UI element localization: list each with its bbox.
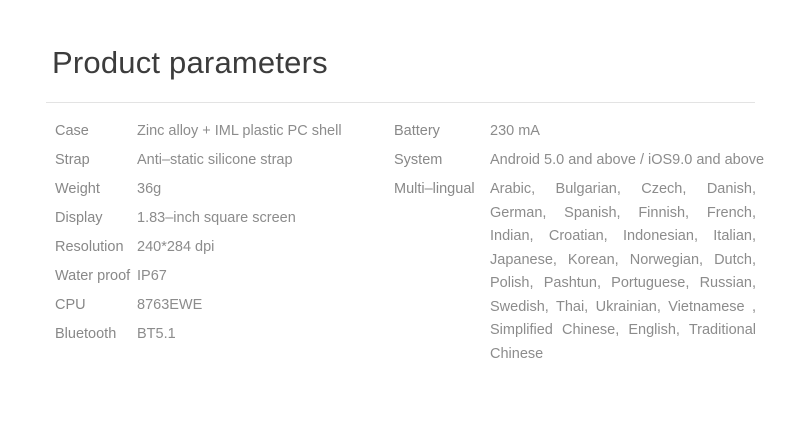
spec-value: Android 5.0 and above / iOS9.0 and above [490,149,764,171]
spec-value: 8763EWE [137,294,385,316]
spec-row: Multi–lingual Arabic, Bulgarian, Czech, … [394,178,756,366]
spec-value-languages: Arabic, Bulgarian, Czech, Danish, German… [490,178,756,366]
spec-value: Zinc alloy + IML plastic PC shell [137,120,385,142]
spec-row: Weight 36g [55,178,385,207]
spec-value: 230 mA [490,120,756,142]
spec-label: Water proof [55,265,137,287]
spec-value: Anti–static silicone strap [137,149,385,171]
spec-value: 1.83–inch square screen [137,207,385,229]
spec-column-right: Battery 230 mA System Android 5.0 and ab… [394,120,756,366]
spec-row: Battery 230 mA [394,120,756,149]
spec-value: IP67 [137,265,385,287]
spec-label: Strap [55,149,137,171]
title-divider [46,102,755,103]
spec-value: BT5.1 [137,323,385,345]
spec-label: Battery [394,120,490,142]
spec-label: CPU [55,294,137,316]
spec-column-left: Case Zinc alloy + IML plastic PC shell S… [55,120,385,352]
spec-row: Display 1.83–inch square screen [55,207,385,236]
spec-label: Case [55,120,137,142]
spec-label: Bluetooth [55,323,137,345]
spec-value: 240*284 dpi [137,236,385,258]
spec-row: System Android 5.0 and above / iOS9.0 an… [394,149,756,178]
spec-row: CPU 8763EWE [55,294,385,323]
spec-label: Multi–lingual [394,178,490,200]
spec-label: Resolution [55,236,137,258]
product-parameters-page: Product parameters Case Zinc alloy + IML… [0,0,800,439]
spec-label: Display [55,207,137,229]
spec-row: Bluetooth BT5.1 [55,323,385,352]
page-title: Product parameters [52,44,328,81]
spec-row: Water proof IP67 [55,265,385,294]
spec-label: System [394,149,490,171]
spec-row: Case Zinc alloy + IML plastic PC shell [55,120,385,149]
spec-row: Strap Anti–static silicone strap [55,149,385,178]
spec-label: Weight [55,178,137,200]
spec-row: Resolution 240*284 dpi [55,236,385,265]
spec-value: 36g [137,178,385,200]
